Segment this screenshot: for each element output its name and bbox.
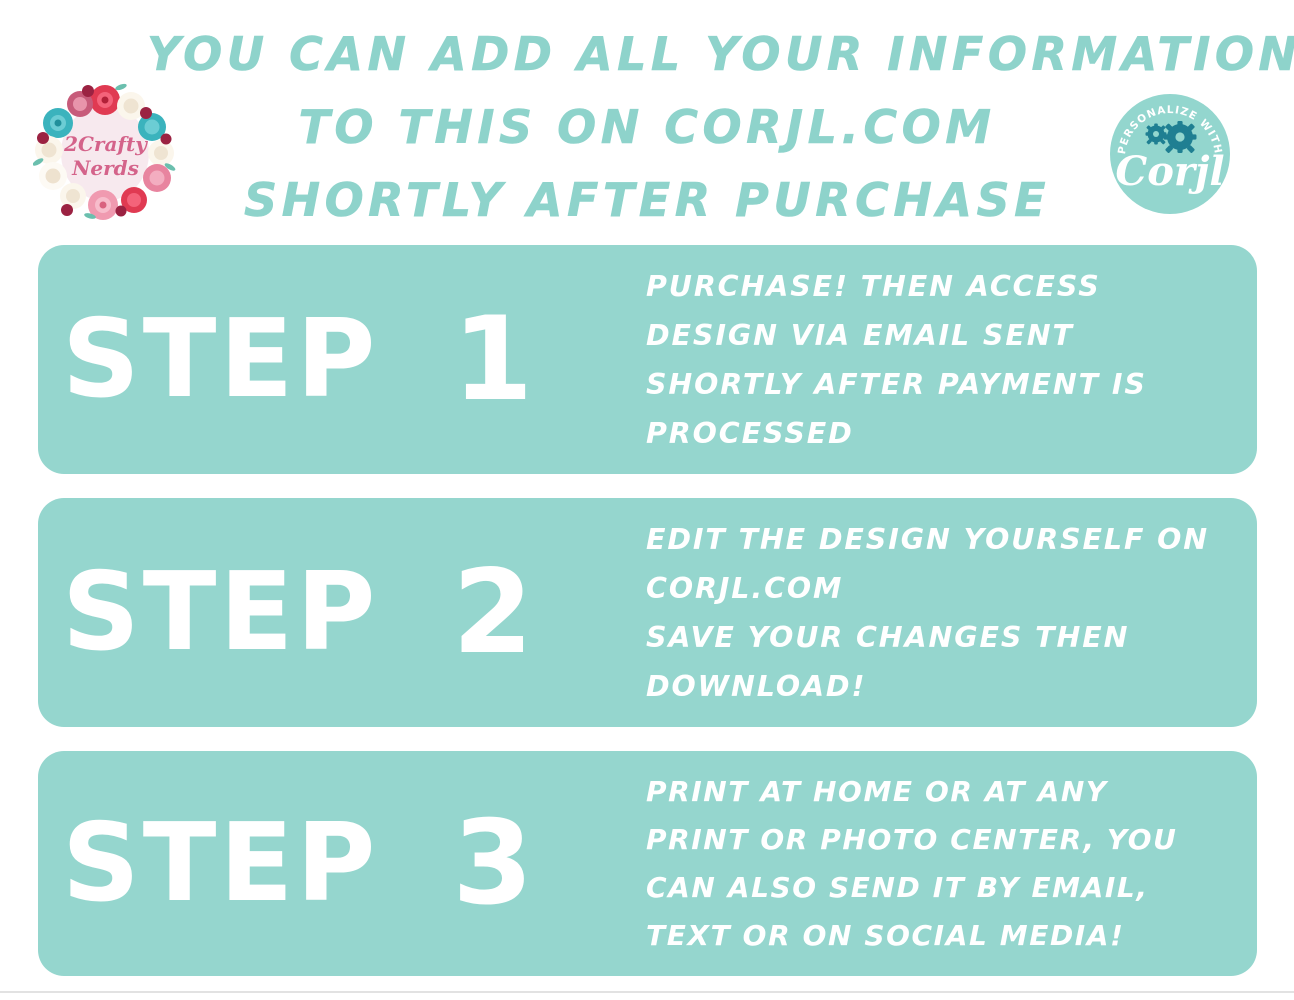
corjl-badge-icon: PERSONALIZE WITH: [1108, 92, 1232, 216]
header: 2Crafty Nerds YOU CAN ADD ALL YOUR INFOR…: [0, 0, 1294, 240]
step-1-body-line-3: SHORTLY AFTER PAYMENT IS: [646, 360, 1239, 409]
step-3-body-line-4: TEXT OR ON SOCIAL MEDIA!: [646, 912, 1239, 960]
step-2-word: STEP: [62, 559, 378, 667]
headline-line-2: TO THIS ON CORJL.COM: [147, 91, 1147, 164]
step-3-body-line-1: PRINT AT HOME OR AT ANY: [646, 768, 1239, 816]
step-2-body-line-4: DOWNLOAD!: [646, 662, 1239, 711]
step-2-body: EDIT THE DESIGN YOURSELF ON CORJL.COM SA…: [646, 515, 1239, 711]
step-3-word: STEP: [62, 810, 378, 918]
headline-line-1: YOU CAN ADD ALL YOUR INFORMATION: [147, 18, 1147, 91]
bottom-divider: [0, 991, 1294, 993]
step-3-number: 3: [452, 806, 536, 922]
step-1-body-line-2: DESIGN VIA EMAIL SENT: [646, 311, 1239, 360]
step-card-1: STEP 1 PURCHASE! THEN ACCESS DESIGN VIA …: [38, 245, 1257, 474]
step-1-word: STEP: [62, 306, 378, 414]
step-1-number: 1: [452, 302, 536, 418]
step-2-body-line-2: CORJL.COM: [646, 564, 1239, 613]
step-1-body: PURCHASE! THEN ACCESS DESIGN VIA EMAIL S…: [646, 262, 1239, 458]
step-1-body-line-4: PROCESSED: [646, 409, 1239, 458]
step-1-body-line-1: PURCHASE! THEN ACCESS: [646, 262, 1239, 311]
page-title: YOU CAN ADD ALL YOUR INFORMATION TO THIS…: [147, 18, 1147, 237]
corjl-brand-text: Corjl: [1115, 148, 1224, 195]
headline-line-3: SHORTLY AFTER PURCHASE: [147, 164, 1147, 237]
step-2-number: 2: [452, 555, 536, 671]
personalize-with-corjl-badge: PERSONALIZE WITH: [1108, 92, 1232, 216]
step-2-label: STEP 2: [62, 555, 622, 671]
step-2-body-line-3: SAVE YOUR CHANGES THEN: [646, 613, 1239, 662]
instruction-card-page: 2Crafty Nerds YOU CAN ADD ALL YOUR INFOR…: [0, 0, 1294, 1000]
step-3-label: STEP 3: [62, 806, 622, 922]
step-3-body-line-2: PRINT OR PHOTO CENTER, YOU: [646, 816, 1239, 864]
step-1-label: STEP 1: [62, 302, 622, 418]
step-3-body-line-3: CAN ALSO SEND IT BY EMAIL,: [646, 864, 1239, 912]
step-3-body: PRINT AT HOME OR AT ANY PRINT OR PHOTO C…: [646, 768, 1239, 960]
step-card-3: STEP 3 PRINT AT HOME OR AT ANY PRINT OR …: [38, 751, 1257, 976]
gear-icon-small: [1146, 124, 1167, 145]
step-2-body-line-1: EDIT THE DESIGN YOURSELF ON: [646, 515, 1239, 564]
step-card-2: STEP 2 EDIT THE DESIGN YOURSELF ON CORJL…: [38, 498, 1257, 727]
